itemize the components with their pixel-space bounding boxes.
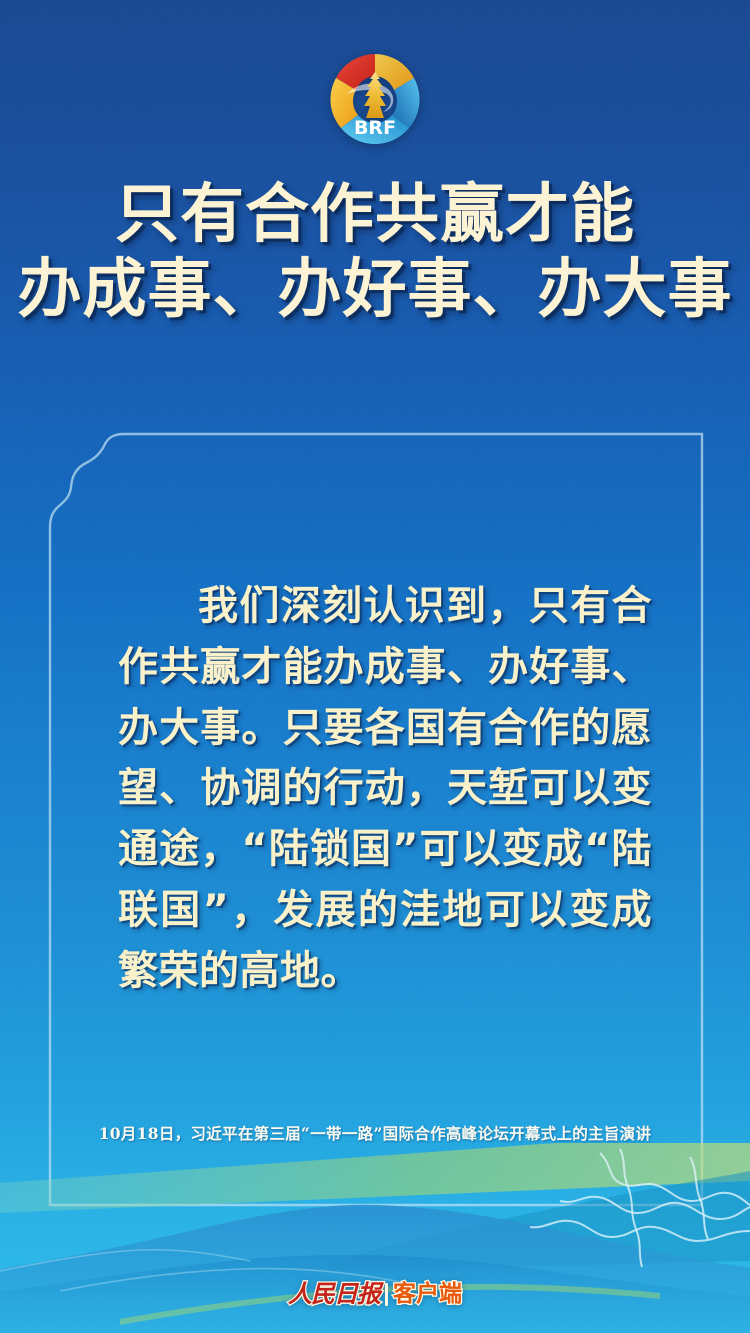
publisher-name: 人民日报 [288, 1282, 380, 1306]
headline-line-2: 办成事、办好事、办大事 [0, 253, 750, 328]
publisher-brand: 人民日报 客户端 [0, 1280, 750, 1308]
brf-logo-text: BRF [354, 117, 396, 139]
brf-logo-icon: BRF [323, 46, 427, 150]
product-name: 客户端 [393, 1283, 462, 1306]
headline-line-1: 只有合作共赢才能 [0, 178, 750, 253]
quote-text: 我们深刻认识到，只有合作共赢才能办成事、办好事、办大事。只要各国有合作的愿望、协… [118, 576, 652, 1002]
poster-canvas: BRF 只有合作共赢才能 办成事、办好事、办大事 我们深刻认识到，只有合作共赢才… [0, 0, 750, 1333]
brf-logo-container: BRF [0, 46, 750, 150]
page-title: 只有合作共赢才能 办成事、办好事、办大事 [0, 178, 750, 328]
publisher-brand-inner: 人民日报 客户端 [281, 1280, 469, 1308]
brand-separator [385, 1283, 388, 1306]
source-caption: 10月18日，习近平在第三届“一带一路”国际合作高峰论坛开幕式上的主旨演讲 [0, 1122, 750, 1144]
